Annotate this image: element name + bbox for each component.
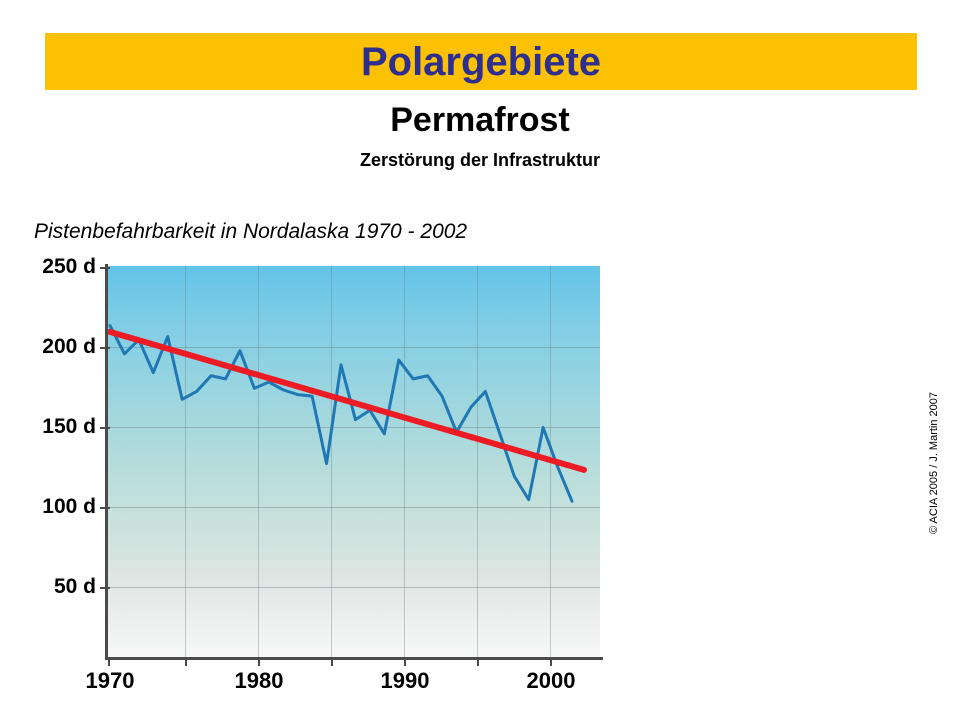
x-axis-tick — [477, 657, 479, 666]
x-axis-tick — [185, 657, 187, 666]
x-axis — [105, 657, 603, 660]
chart-container: 250 d 200 d 150 d 100 d 50 d 1970 1980 1… — [0, 0, 960, 720]
chart-series-layer — [108, 266, 600, 658]
x-axis-tick — [404, 657, 406, 666]
y-axis-label: 150 d — [10, 417, 96, 437]
y-axis-tick — [100, 587, 110, 589]
x-axis-tick — [331, 657, 333, 666]
y-axis — [105, 264, 108, 660]
y-axis-tick — [100, 347, 110, 349]
y-axis-tick — [100, 507, 110, 509]
trend-line — [110, 332, 584, 470]
x-axis-label: 1980 — [199, 668, 319, 694]
x-axis-tick — [258, 657, 260, 666]
copyright-text: © ACIA 2005 / J. Martin 2007 — [928, 520, 940, 534]
x-axis-label: 2000 — [491, 668, 611, 694]
y-axis-label: 50 d — [10, 577, 96, 597]
y-axis-label: 200 d — [10, 337, 96, 357]
x-axis-tick — [108, 657, 110, 666]
copyright-notice: © ACIA 2005 / J. Martin 2007 — [928, 520, 940, 534]
y-axis-tick — [100, 427, 110, 429]
y-axis-label: 250 d — [10, 257, 96, 277]
slide-root: Polargebiete Permafrost Zerstörung der I… — [0, 0, 960, 720]
y-axis-tick — [100, 267, 110, 269]
x-axis-tick — [550, 657, 552, 666]
y-axis-label: 100 d — [10, 497, 96, 517]
x-axis-label: 1990 — [345, 668, 465, 694]
x-axis-label: 1970 — [50, 668, 170, 694]
